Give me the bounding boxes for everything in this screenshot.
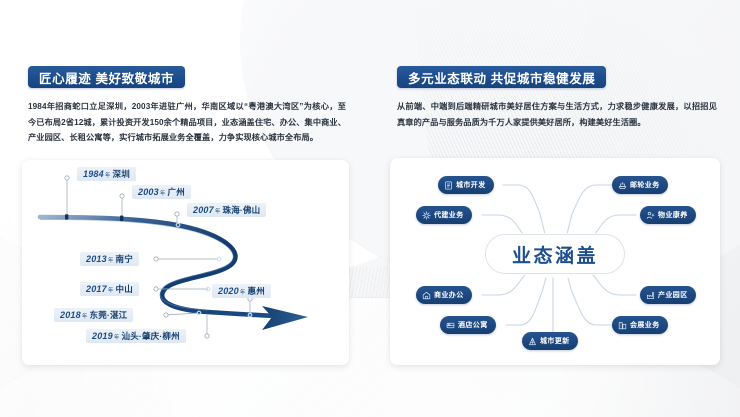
mindmap-node-agency-construction[interactable]: 代建业务 — [416, 206, 472, 224]
section-description-right: 从前端、中端到后端精研城市美好居住方案与生活方式，力求稳步健康发展，以招招见真章… — [397, 99, 717, 130]
panel-timeline: 匠心履迹 美好致敬城市 1984年招商蛇口立足深圳，2003年进驻广州，华南区域… — [0, 0, 370, 417]
section-description-left: 1984年招商蛇口立足深圳，2003年进驻广州，华南区域以“粤港澳大湾区”为核心… — [28, 99, 346, 146]
timeline-city: 广州 — [168, 186, 185, 198]
mindmap-center-label: 业态涵盖 — [512, 241, 598, 268]
mindmap-node-commercial-office[interactable]: 商业办公 — [416, 286, 472, 304]
gear-icon — [422, 211, 431, 220]
timeline-arrow-head — [262, 306, 308, 330]
timeline-label-2007[interactable]: 2007 年 珠海·佛山 — [187, 203, 266, 217]
timeline-label-2017[interactable]: 2017 年 中山 — [80, 282, 139, 296]
timeline-year: 2013 — [86, 254, 107, 264]
timeline-year-suffix: 年 — [108, 286, 114, 294]
mindmap-node-label: 代建业务 — [434, 210, 464, 220]
home-icon — [422, 291, 431, 300]
mindmap-center-node: 业态涵盖 — [485, 234, 625, 274]
mindmap-node-exhibition-business[interactable]: 会展业务 — [612, 316, 668, 334]
mindmap-node-cruise-business[interactable]: 邮轮业务 — [612, 176, 668, 194]
mindmap-node-label: 会展业务 — [630, 320, 660, 330]
timeline-city: 惠州 — [248, 285, 265, 297]
panel-mindmap: 多元业态联动 共促城市稳健发展 从前端、中端到后端精研城市美好居住方案与生活方式… — [370, 0, 740, 417]
timeline-year: 2017 — [86, 284, 107, 294]
timeline-card: 1984 年 深圳 2003 年 广州 2007 年 珠海·佛山 2013 年 … — [22, 160, 349, 365]
timeline-year-suffix: 年 — [82, 312, 88, 320]
timeline-label-2018[interactable]: 2018 年 东莞·湛江 — [54, 308, 133, 322]
timeline-year: 2018 — [60, 310, 81, 320]
timeline-city: 汕头·肇庆·柳州 — [122, 330, 180, 342]
mindmap-node-label: 产业园区 — [658, 290, 688, 300]
timeline-city: 东莞·湛江 — [90, 309, 128, 321]
mindmap-node-label: 城市更新 — [540, 336, 570, 346]
timeline-label-2019[interactable]: 2019 年 汕头·肇庆·柳州 — [86, 329, 186, 343]
bed-icon — [446, 321, 455, 330]
mindmap-node-label: 酒店公寓 — [458, 320, 488, 330]
timeline-label-1984[interactable]: 1984 年 深圳 — [77, 167, 136, 181]
timeline-year: 2020 — [218, 286, 239, 296]
mindmap-node-hotel-apartment[interactable]: 酒店公寓 — [440, 316, 496, 334]
timeline-year-suffix: 年 — [114, 333, 120, 341]
section-title-badge-left: 匠心履迹 美好致敬城市 — [28, 66, 185, 88]
timeline-year-suffix: 年 — [240, 288, 246, 296]
timeline-year-suffix: 年 — [215, 207, 221, 215]
ship-icon — [618, 181, 627, 190]
timeline-year-suffix: 年 — [105, 171, 111, 179]
timeline-label-2013[interactable]: 2013 年 南宁 — [80, 252, 139, 266]
timeline-year: 2007 — [193, 205, 214, 215]
mindmap-node-property-wellness[interactable]: 物业康养 — [640, 206, 696, 224]
crane-icon — [528, 337, 537, 346]
timeline-year: 2019 — [92, 331, 113, 341]
mindmap-node-industrial-park[interactable]: 产业园区 — [640, 286, 696, 304]
mindmap-node-label: 城市开发 — [456, 180, 486, 190]
timeline-label-2003[interactable]: 2003 年 广州 — [132, 185, 191, 199]
timeline-year: 1984 — [83, 169, 104, 179]
mindmap-node-label: 物业康养 — [658, 210, 688, 220]
mindmap-node-urban-renewal[interactable]: 城市更新 — [522, 332, 578, 350]
person-icon — [646, 211, 655, 220]
timeline-year-suffix: 年 — [160, 189, 166, 197]
mindmap-card: 业态涵盖 城市开发 代建业务 — [390, 158, 720, 365]
timeline-year: 2003 — [138, 187, 159, 197]
timeline-city: 南宁 — [116, 253, 133, 265]
building-icon — [618, 321, 627, 330]
mindmap-node-label: 商业办公 — [434, 290, 464, 300]
timeline-curve — [40, 217, 274, 316]
timeline-city: 中山 — [116, 283, 133, 295]
timeline-label-2020[interactable]: 2020 年 惠州 — [212, 284, 271, 298]
timeline-city: 珠海·佛山 — [223, 204, 261, 216]
mindmap-node-city-development[interactable]: 城市开发 — [438, 176, 494, 194]
document-icon — [444, 181, 453, 190]
timeline-year-suffix: 年 — [108, 256, 114, 264]
mindmap-node-label: 邮轮业务 — [630, 180, 660, 190]
section-title-badge-right: 多元业态联动 共促城市稳健发展 — [397, 66, 606, 88]
factory-icon — [646, 291, 655, 300]
timeline-city: 深圳 — [113, 168, 130, 180]
